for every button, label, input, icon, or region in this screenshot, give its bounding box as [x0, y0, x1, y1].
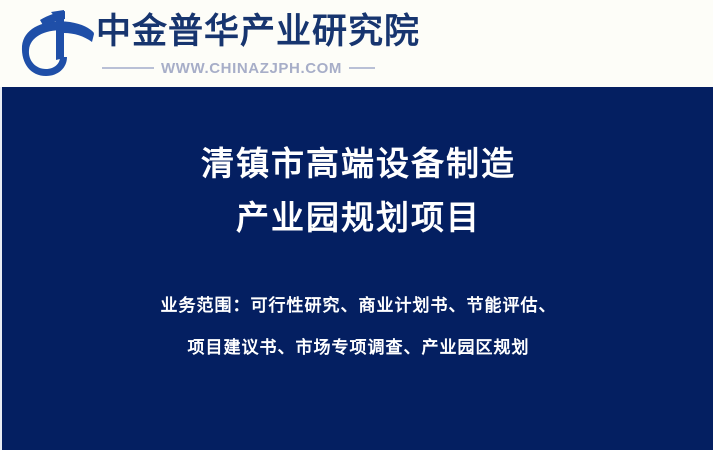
chinazjph-swoosh-logo-icon	[18, 6, 96, 78]
cover-page: 中金普华产业研究院 WWW.CHINAZJPH.COM 清镇市高端设备制造 产业…	[0, 0, 713, 450]
subtitle-line-1: 业务范围：可行性研究、商业计划书、节能评估、	[2, 285, 713, 327]
rule-left	[102, 67, 154, 69]
cover-panel: 清镇市高端设备制造 产业园规划项目 业务范围：可行性研究、商业计划书、节能评估、…	[0, 87, 713, 450]
title-line-1: 清镇市高端设备制造	[2, 137, 713, 191]
subtitle-line-2: 项目建议书、市场专项调查、产业园区规划	[2, 327, 713, 369]
page-header: 中金普华产业研究院 WWW.CHINAZJPH.COM	[0, 0, 713, 87]
brand-url-row: WWW.CHINAZJPH.COM	[102, 58, 422, 78]
rule-right	[349, 67, 375, 69]
title-line-2: 产业园规划项目	[2, 191, 713, 245]
brand-name: 中金普华产业研究院	[96, 11, 420, 53]
page-subtitle: 业务范围：可行性研究、商业计划书、节能评估、 项目建议书、市场专项调查、产业园区…	[2, 285, 713, 369]
page-title: 清镇市高端设备制造 产业园规划项目	[2, 137, 713, 245]
brand-lockup: 中金普华产业研究院 WWW.CHINAZJPH.COM	[14, 2, 434, 85]
brand-url: WWW.CHINAZJPH.COM	[161, 60, 342, 77]
